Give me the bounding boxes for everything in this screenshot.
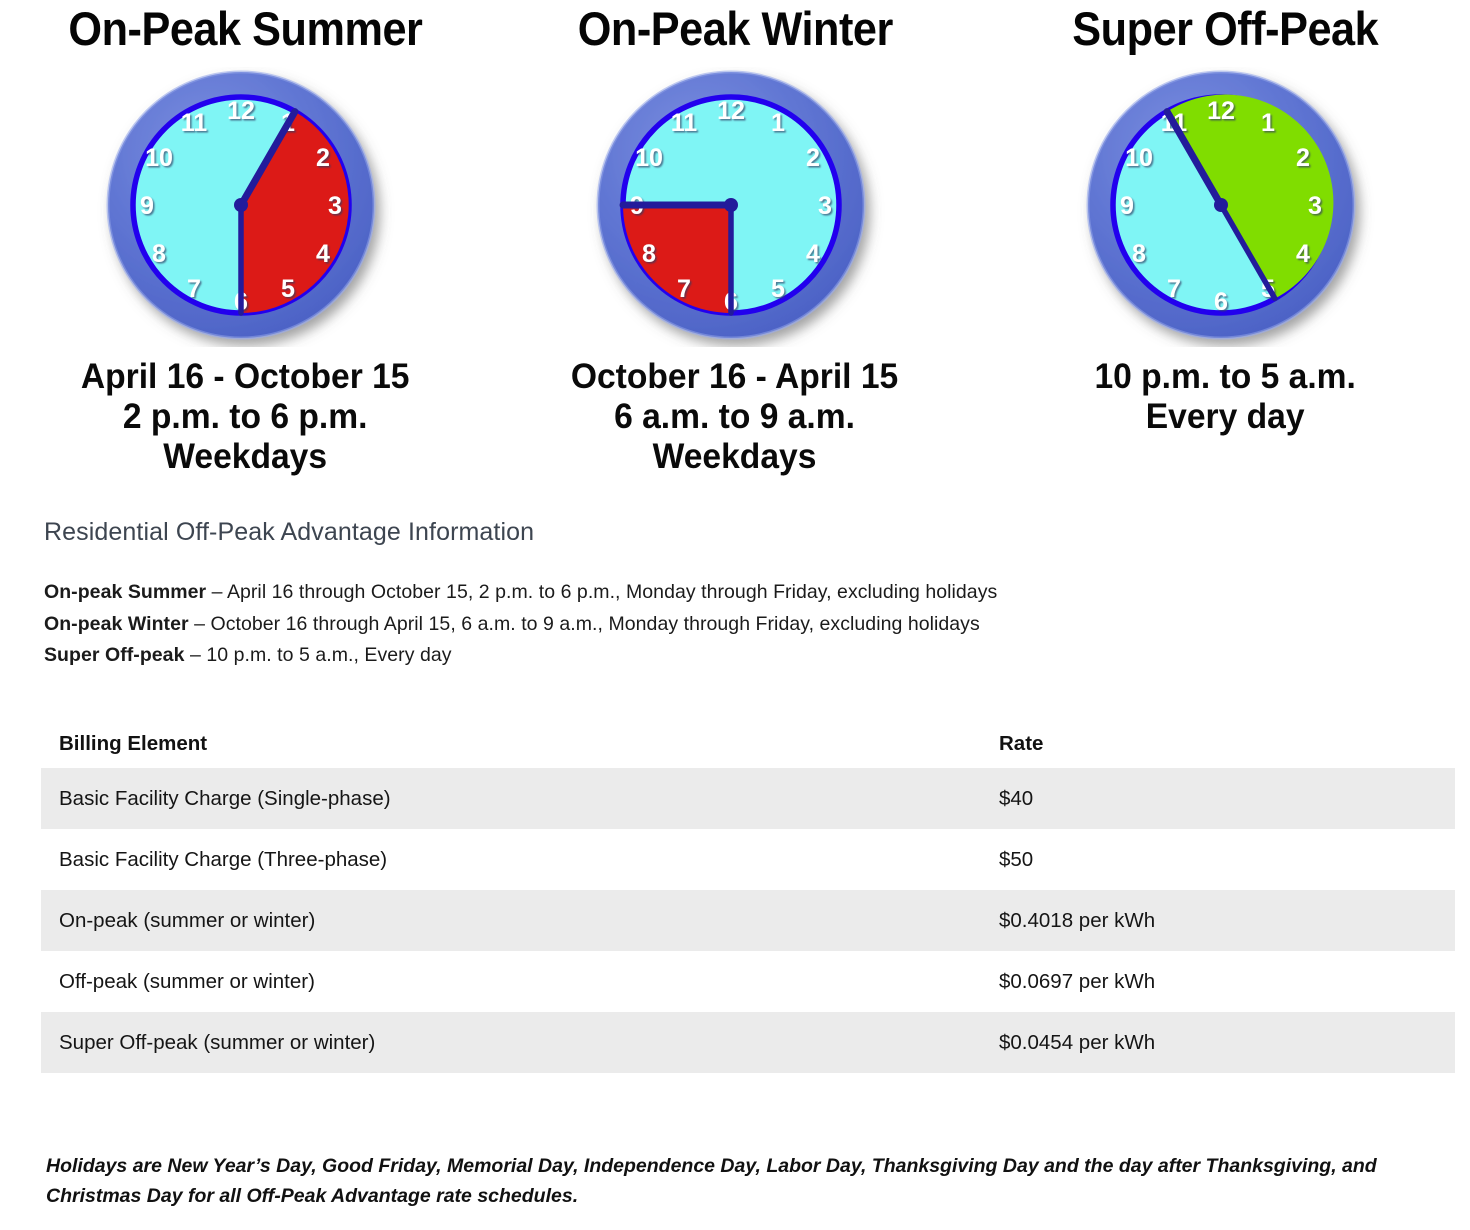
info-text-winter: October 16 through April 15, 6 a.m. to 9… [210, 613, 979, 635]
svg-text:10: 10 [635, 144, 663, 172]
svg-text:2: 2 [1296, 144, 1310, 172]
rate-table-head: Billing Element Rate [41, 720, 1455, 768]
clock-row: On-Peak Summer [0, 0, 1470, 477]
clock-title-superoffpeak: Super Off-Peak [1072, 4, 1378, 53]
clock-block-summer: On-Peak Summer [0, 0, 490, 477]
svg-text:12: 12 [227, 97, 255, 125]
cell-rate: $0.0697 per kWh [981, 951, 1455, 1012]
cell-rate: $0.0454 per kWh [981, 1012, 1455, 1073]
table-row: On-peak (summer or winter) $0.4018 per k… [41, 890, 1455, 951]
info-heading: Residential Off-Peak Advantage Informati… [44, 518, 1424, 547]
table-header-row: Billing Element Rate [41, 720, 1455, 768]
table-row: Super Off-peak (summer or winter) $0.045… [41, 1012, 1455, 1073]
rate-table-body: Basic Facility Charge (Single-phase) $40… [41, 768, 1455, 1073]
cell-billing-element: Off-peak (summer or winter) [41, 951, 981, 1012]
svg-text:1: 1 [1261, 109, 1275, 137]
svg-text:10: 10 [1125, 144, 1153, 172]
column-header-billing-element: Billing Element [41, 720, 981, 768]
info-line-superoffpeak: Super Off-peak – 10 p.m. to 5 a.m., Ever… [44, 640, 1424, 672]
column-header-rate: Rate [981, 720, 1455, 768]
info-text-summer: April 16 through October 15, 2 p.m. to 6… [227, 581, 997, 603]
holidays-note: Holidays are New Year’s Day, Good Friday… [46, 1152, 1446, 1211]
cell-billing-element: Basic Facility Charge (Single-phase) [41, 768, 981, 829]
svg-text:7: 7 [187, 275, 201, 303]
cell-rate: $0.4018 per kWh [981, 890, 1455, 951]
clock-graphic-winter: 12 1 2 3 4 5 6 7 8 9 10 11 [585, 67, 885, 347]
cell-billing-element: Basic Facility Charge (Three-phase) [41, 829, 981, 890]
clock-title-summer: On-Peak Summer [68, 4, 422, 53]
svg-text:4: 4 [806, 240, 820, 268]
clock-caption-summer: April 16 - October 15 2 p.m. to 6 p.m. W… [81, 357, 410, 477]
info-label-summer: On-peak Summer [44, 581, 206, 603]
svg-text:3: 3 [1308, 192, 1322, 220]
clock-face-superoffpeak: 12 1 2 3 4 5 6 7 8 9 10 11 [1075, 67, 1375, 347]
svg-text:3: 3 [328, 192, 342, 220]
clock-block-superoffpeak: Super Off-Peak [980, 0, 1470, 477]
svg-text:2: 2 [806, 144, 820, 172]
clock-caption-winter: October 16 - April 15 6 a.m. to 9 a.m. W… [571, 357, 898, 477]
svg-text:4: 4 [316, 240, 330, 268]
cell-billing-element: Super Off-peak (summer or winter) [41, 1012, 981, 1073]
svg-text:8: 8 [642, 240, 656, 268]
svg-text:11: 11 [671, 109, 698, 137]
clock-caption-superoffpeak: 10 p.m. to 5 a.m. Every day [1094, 357, 1355, 437]
svg-text:9: 9 [1120, 192, 1134, 220]
svg-text:11: 11 [181, 109, 208, 137]
svg-text:4: 4 [1296, 240, 1310, 268]
svg-text:12: 12 [1207, 97, 1235, 125]
info-line-summer: On-peak Summer – April 16 through Octobe… [44, 577, 1424, 609]
info-dash-summer: – [206, 581, 227, 603]
svg-text:5: 5 [771, 275, 785, 303]
clock-face-summer: 12 1 2 3 4 5 6 7 8 9 10 11 [95, 67, 395, 347]
clock-graphic-summer: 12 1 2 3 4 5 6 7 8 9 10 11 [95, 67, 395, 347]
cell-rate: $50 [981, 829, 1455, 890]
clock-title-winter: On-Peak Winter [577, 4, 892, 53]
info-label-superoffpeak: Super Off-peak [44, 644, 184, 666]
svg-text:1: 1 [771, 109, 785, 137]
clock-face-winter: 12 1 2 3 4 5 6 7 8 9 10 11 [585, 67, 885, 347]
info-line-winter: On-peak Winter – October 16 through Apri… [44, 609, 1424, 641]
info-dash-winter: – [189, 613, 211, 635]
table-row: Basic Facility Charge (Three-phase) $50 [41, 829, 1455, 890]
svg-text:6: 6 [1214, 288, 1228, 316]
info-text-superoffpeak: 10 p.m. to 5 a.m., Every day [206, 644, 451, 666]
cell-rate: $40 [981, 768, 1455, 829]
svg-text:7: 7 [1167, 275, 1181, 303]
svg-text:10: 10 [145, 144, 173, 172]
svg-text:3: 3 [818, 192, 832, 220]
clock-graphic-superoffpeak: 12 1 2 3 4 5 6 7 8 9 10 11 [1075, 67, 1375, 347]
cell-billing-element: On-peak (summer or winter) [41, 890, 981, 951]
clock-block-winter: On-Peak Winter [490, 0, 980, 477]
info-section: Residential Off-Peak Advantage Informati… [44, 518, 1424, 672]
svg-text:5: 5 [281, 275, 295, 303]
svg-text:12: 12 [717, 97, 745, 125]
svg-text:8: 8 [1132, 240, 1146, 268]
svg-text:2: 2 [316, 144, 330, 172]
svg-text:7: 7 [677, 275, 691, 303]
table-row: Off-peak (summer or winter) $0.0697 per … [41, 951, 1455, 1012]
rate-table: Billing Element Rate Basic Facility Char… [41, 720, 1455, 1073]
info-label-winter: On-peak Winter [44, 613, 189, 635]
svg-text:8: 8 [152, 240, 166, 268]
info-dash-superoffpeak: – [184, 644, 206, 666]
svg-text:9: 9 [140, 192, 154, 220]
table-row: Basic Facility Charge (Single-phase) $40 [41, 768, 1455, 829]
